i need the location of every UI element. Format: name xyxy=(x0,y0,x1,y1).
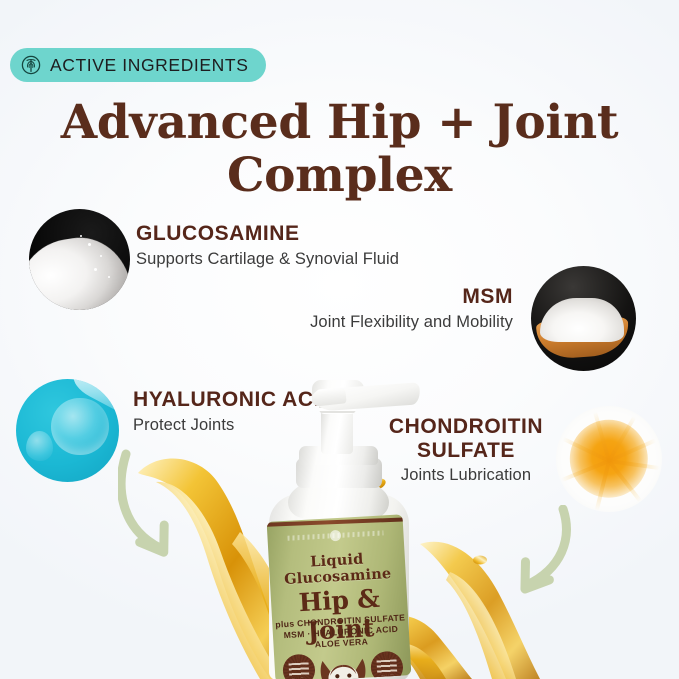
white-powder-graphic xyxy=(29,231,130,310)
product-bottle: Liquid Glucosamine Hip & Joint plus CHON… xyxy=(255,358,427,679)
ingredient-msm: MSM Joint Flexibility and Mobility xyxy=(265,285,513,332)
glucosamine-image xyxy=(29,209,130,310)
dog-mascot-icon xyxy=(316,656,370,679)
gel-droplet-graphic xyxy=(51,398,109,456)
ingredient-subtitle: Supports Cartilage & Synovial Fluid xyxy=(136,250,399,269)
active-ingredients-badge: ACTIVE INGREDIENTS xyxy=(10,48,266,82)
pump-head xyxy=(312,380,364,406)
page-title-line2: Complex xyxy=(0,149,679,202)
gel-droplet-small-graphic xyxy=(26,431,53,462)
bottle-label: Liquid Glucosamine Hip & Joint plus CHON… xyxy=(267,514,412,679)
plant-sprout-icon xyxy=(21,55,41,75)
arrow-left-icon xyxy=(118,448,196,572)
arrow-right-icon xyxy=(497,505,573,601)
product-infographic: ACTIVE INGREDIENTS Advanced Hip + Joint … xyxy=(0,0,679,679)
ingredient-glucosamine: GLUCOSAMINE Supports Cartilage & Synovia… xyxy=(136,222,399,269)
quality-seal-left xyxy=(282,653,316,679)
badge-label: ACTIVE INGREDIENTS xyxy=(50,55,248,76)
powder-mound-graphic xyxy=(540,298,624,342)
ingredient-title: GLUCOSAMINE xyxy=(136,222,399,246)
ingredient-subtitle: Joint Flexibility and Mobility xyxy=(265,313,513,332)
seal-text-lines xyxy=(289,662,310,678)
page-title-line1: Advanced Hip + Joint xyxy=(61,95,619,150)
msm-image xyxy=(531,266,636,371)
page-title: Advanced Hip + Joint Complex xyxy=(0,96,679,202)
ingredient-title: MSM xyxy=(265,285,513,309)
chondroitin-sulfate-image xyxy=(556,406,662,512)
seal-text-lines xyxy=(377,659,398,675)
hyaluronic-acid-image xyxy=(16,379,119,482)
label-brand-dot xyxy=(330,530,342,542)
quality-seal-right xyxy=(370,651,404,679)
